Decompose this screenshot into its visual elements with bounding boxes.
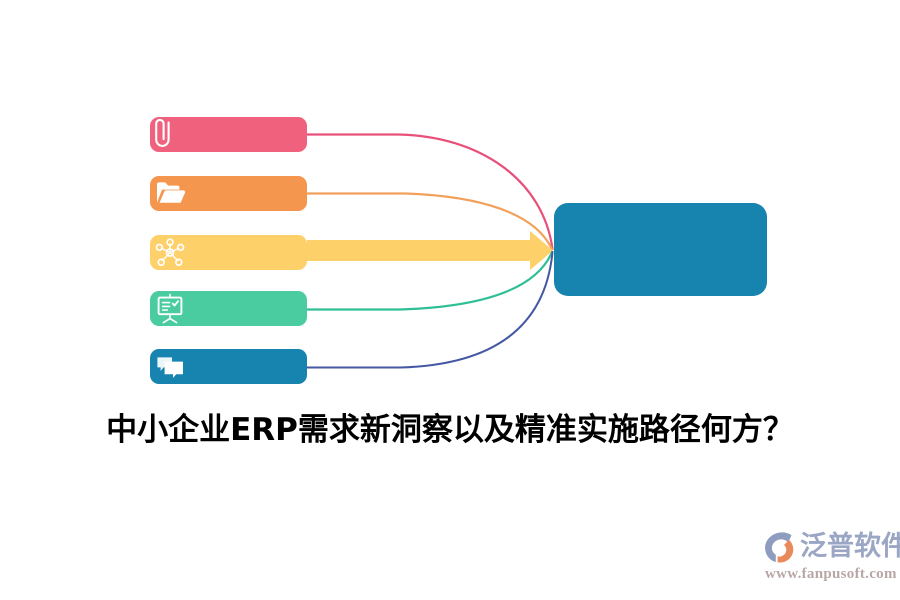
source-node-chat[interactable] (150, 349, 307, 384)
fanpu-c-arc-logo-icon (763, 530, 797, 564)
source-node-paperclip[interactable] (150, 117, 307, 152)
source-node-folder[interactable] (150, 176, 307, 211)
diagram-canvas: 中小企业ERP需求新洞察以及精准实施路径何方？ 泛普软件 www.fanpuso… (0, 0, 900, 600)
watermark-brand: 泛普软件 (800, 530, 900, 564)
target-node[interactable] (554, 203, 767, 296)
source-node-presentation[interactable] (150, 291, 307, 326)
connector-paperclip (307, 135, 553, 250)
converging-arrow-diagram (0, 0, 900, 600)
page-title: 中小企业ERP需求新洞察以及精准实施路径何方？ (0, 404, 900, 449)
connector-group (307, 135, 553, 368)
connector-network-arrow (307, 231, 553, 270)
source-node-network[interactable] (150, 235, 307, 270)
watermark: 泛普软件 www.fanpusoft.com (763, 530, 897, 592)
watermark-url: www.fanpusoft.com (765, 566, 897, 583)
